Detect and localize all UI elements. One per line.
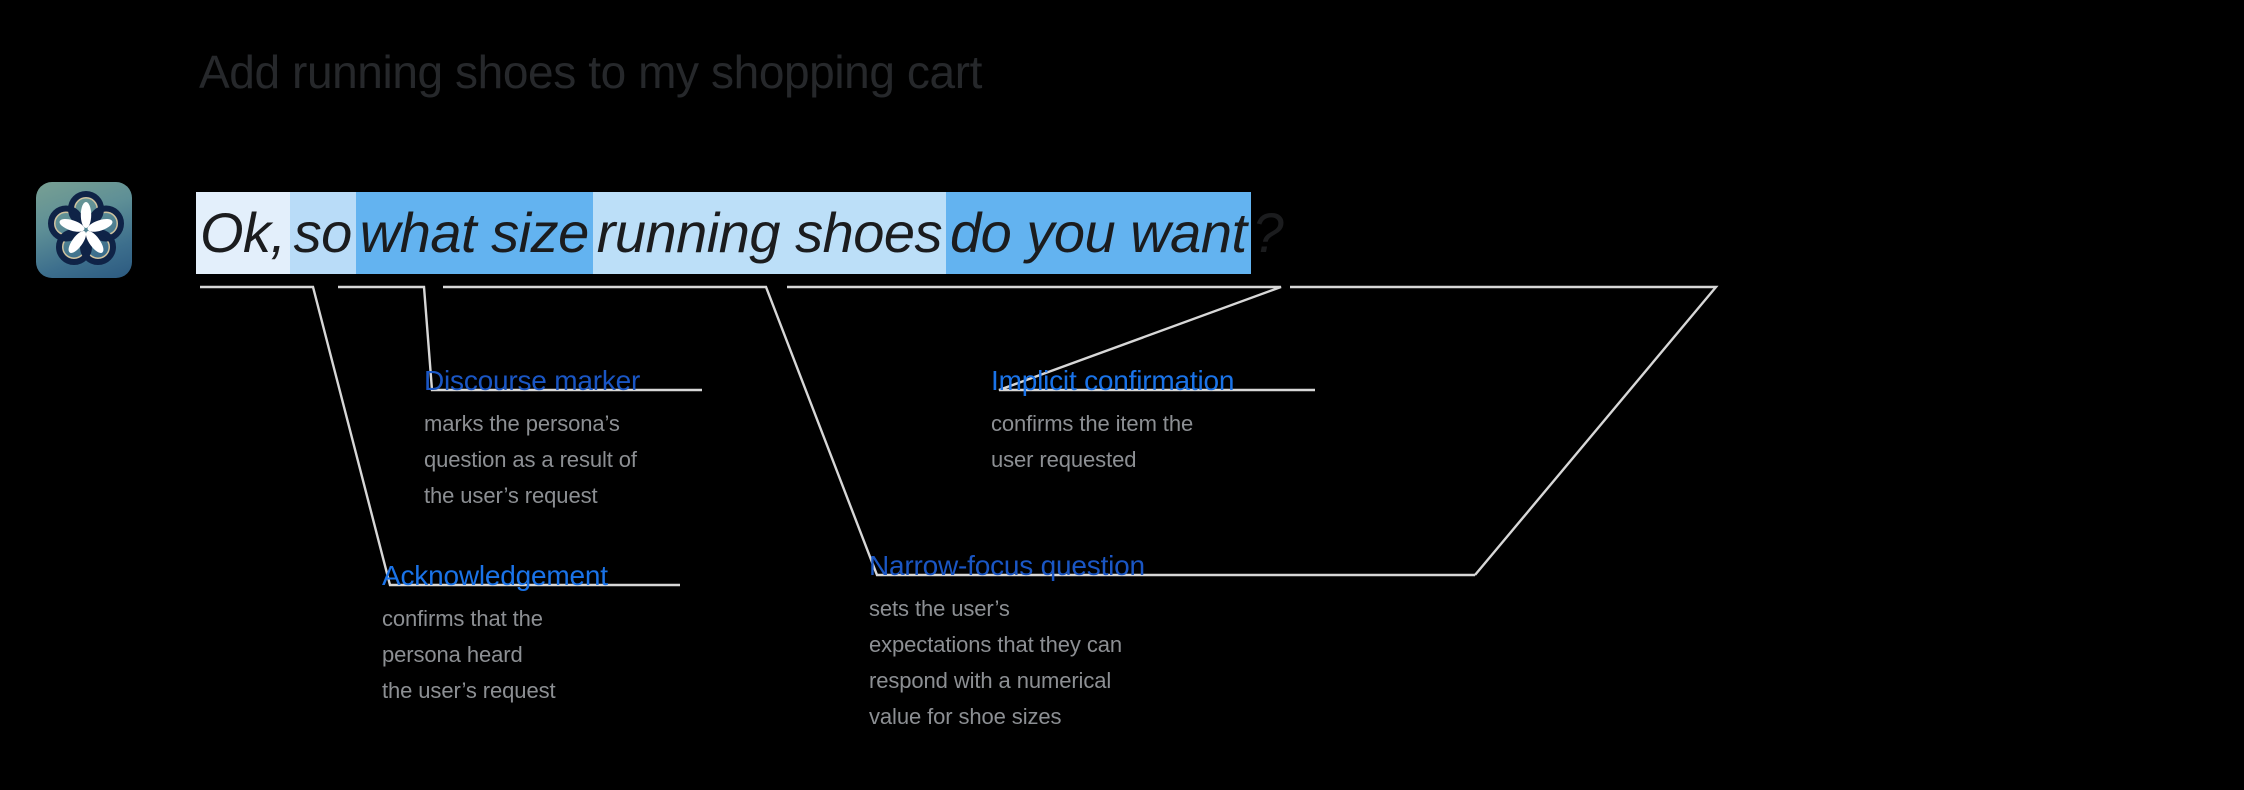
annotation-narrow-focus-question: Narrow-focus question sets the user’s ex… xyxy=(869,549,1145,735)
annotation-body-discourse-marker: marks the persona’s question as a result… xyxy=(424,406,640,514)
annotation-title-acknowledgement: Acknowledgement xyxy=(382,559,608,593)
utterance-segment-running-shoes[interactable]: running shoes xyxy=(593,192,946,274)
annotation-diagram: Add running shoes to my shopping cart xyxy=(0,0,2244,790)
page-title: Add running shoes to my shopping cart xyxy=(199,44,982,100)
annotation-implicit-confirmation: Implicit confirmation confirms the item … xyxy=(991,364,1234,478)
utterance-segment-so[interactable]: so xyxy=(290,192,356,274)
utterance-segment-ok[interactable]: Ok, xyxy=(196,192,290,274)
annotation-body-narrow-focus-question: sets the user’s expectations that they c… xyxy=(869,591,1145,735)
persona-avatar xyxy=(36,182,132,278)
utterance-segment-do-you-want[interactable]: do you want xyxy=(946,192,1250,274)
annotation-body-acknowledgement: confirms that the persona heard the user… xyxy=(382,601,608,709)
annotation-title-narrow-focus-question: Narrow-focus question xyxy=(869,549,1145,583)
annotation-body-implicit-confirmation: confirms the item the user requested xyxy=(991,406,1234,478)
utterance-segment-what-size[interactable]: what size xyxy=(356,192,593,274)
utterance-segment-question-mark: ? xyxy=(1251,192,1286,274)
connector-doyouwant-to-narrow-focus xyxy=(1290,287,1716,575)
annotation-title-discourse-marker: Discourse marker xyxy=(424,364,640,398)
utterance-line: Ok,sowhat sizerunning shoesdo you want? xyxy=(196,192,1285,274)
annotation-discourse-marker: Discourse marker marks the persona’s que… xyxy=(424,364,640,514)
annotation-title-implicit-confirmation: Implicit confirmation xyxy=(991,364,1234,398)
annotation-acknowledgement: Acknowledgement confirms that the person… xyxy=(382,559,608,709)
flower-rosette-icon xyxy=(36,182,132,278)
